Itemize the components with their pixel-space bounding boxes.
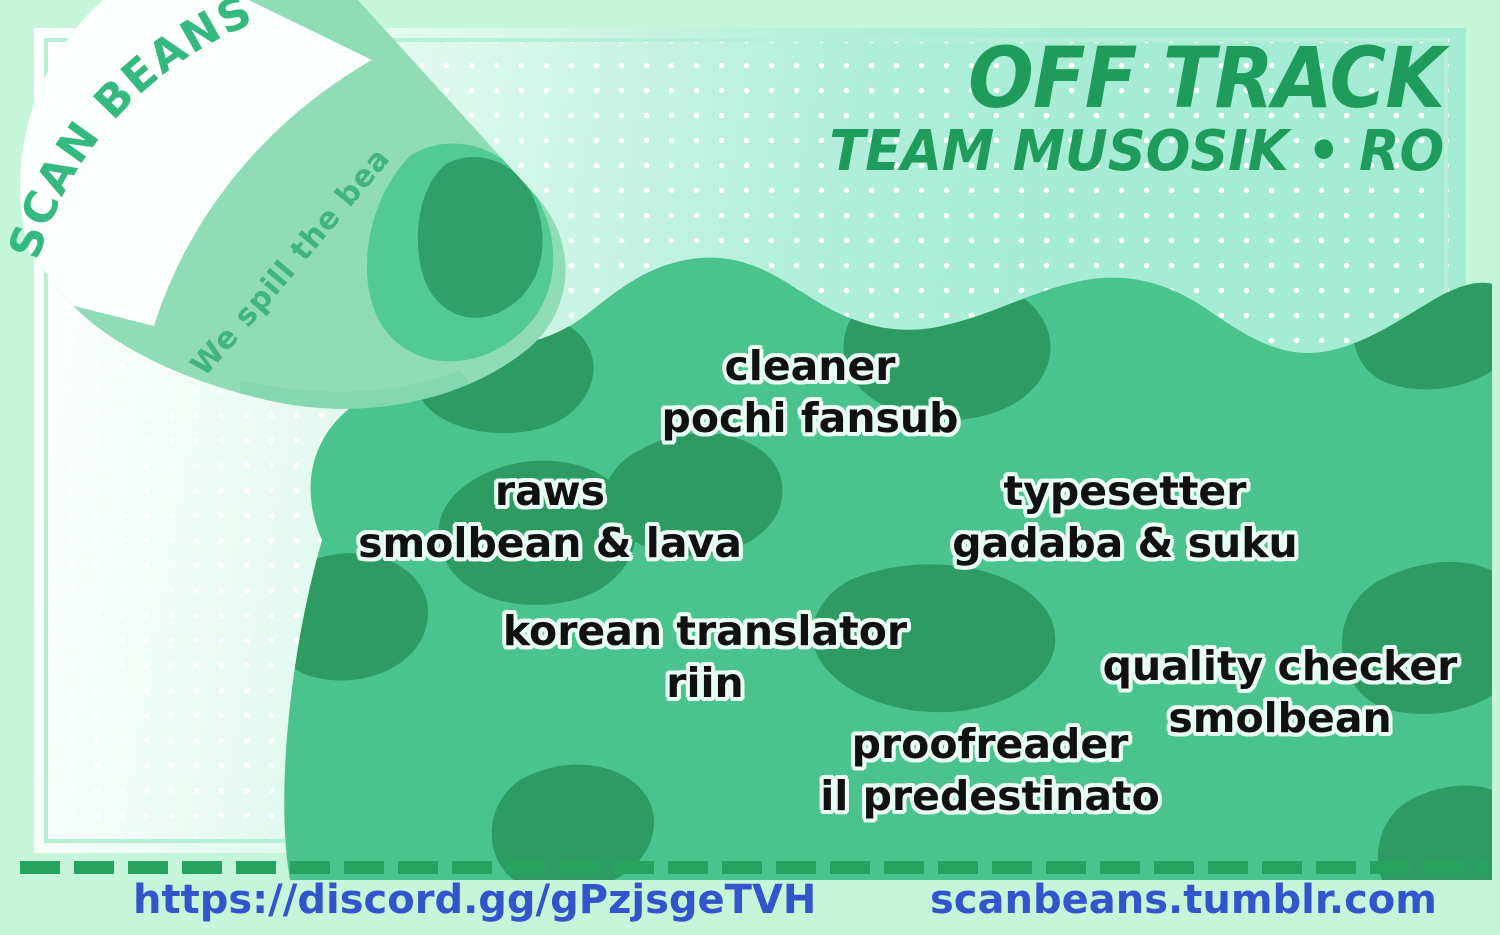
page-subtitle: TEAM MUSOSIK • RO (829, 125, 1444, 179)
credit-raws: raws smolbean & lava (340, 465, 760, 570)
credit-name: riin (490, 657, 920, 709)
credit-role: typesetter (930, 465, 1320, 517)
page-title: OFF TRACK (842, 38, 1444, 119)
credit-role: cleaner (620, 340, 1000, 392)
credit-name: smolbean (1080, 692, 1480, 744)
credit-name: smolbean & lava (340, 517, 760, 569)
credit-role: quality checker (1080, 640, 1480, 692)
credit-role: raws (340, 465, 760, 517)
credit-name: pochi fansub (620, 392, 1000, 444)
credit-cleaner: cleaner pochi fansub (620, 340, 1000, 445)
credit-korean-translator: korean translator riin (490, 605, 920, 710)
tumblr-link[interactable]: scanbeans.tumblr.com (930, 877, 1437, 923)
credits-page: SCAN BEANS We spill the beans! OFF TRACK… (0, 0, 1500, 935)
scan-beans-cup: SCAN BEANS We spill the beans! (0, 0, 620, 510)
credit-name: gadaba & suku (930, 517, 1320, 569)
footer-bar: https://discord.gg/gPzjsgeTVH scanbeans.… (0, 874, 1500, 935)
credit-role: korean translator (490, 605, 920, 657)
credit-typesetter: typesetter gadaba & suku (930, 465, 1320, 570)
title-block: OFF TRACK TEAM MUSOSIK • RO (790, 38, 1444, 178)
discord-link[interactable]: https://discord.gg/gPzjsgeTVH (133, 877, 816, 923)
credit-name: il predestinato (790, 770, 1190, 822)
credit-quality-checker: quality checker smolbean (1080, 640, 1480, 745)
dashed-divider (20, 861, 1488, 874)
